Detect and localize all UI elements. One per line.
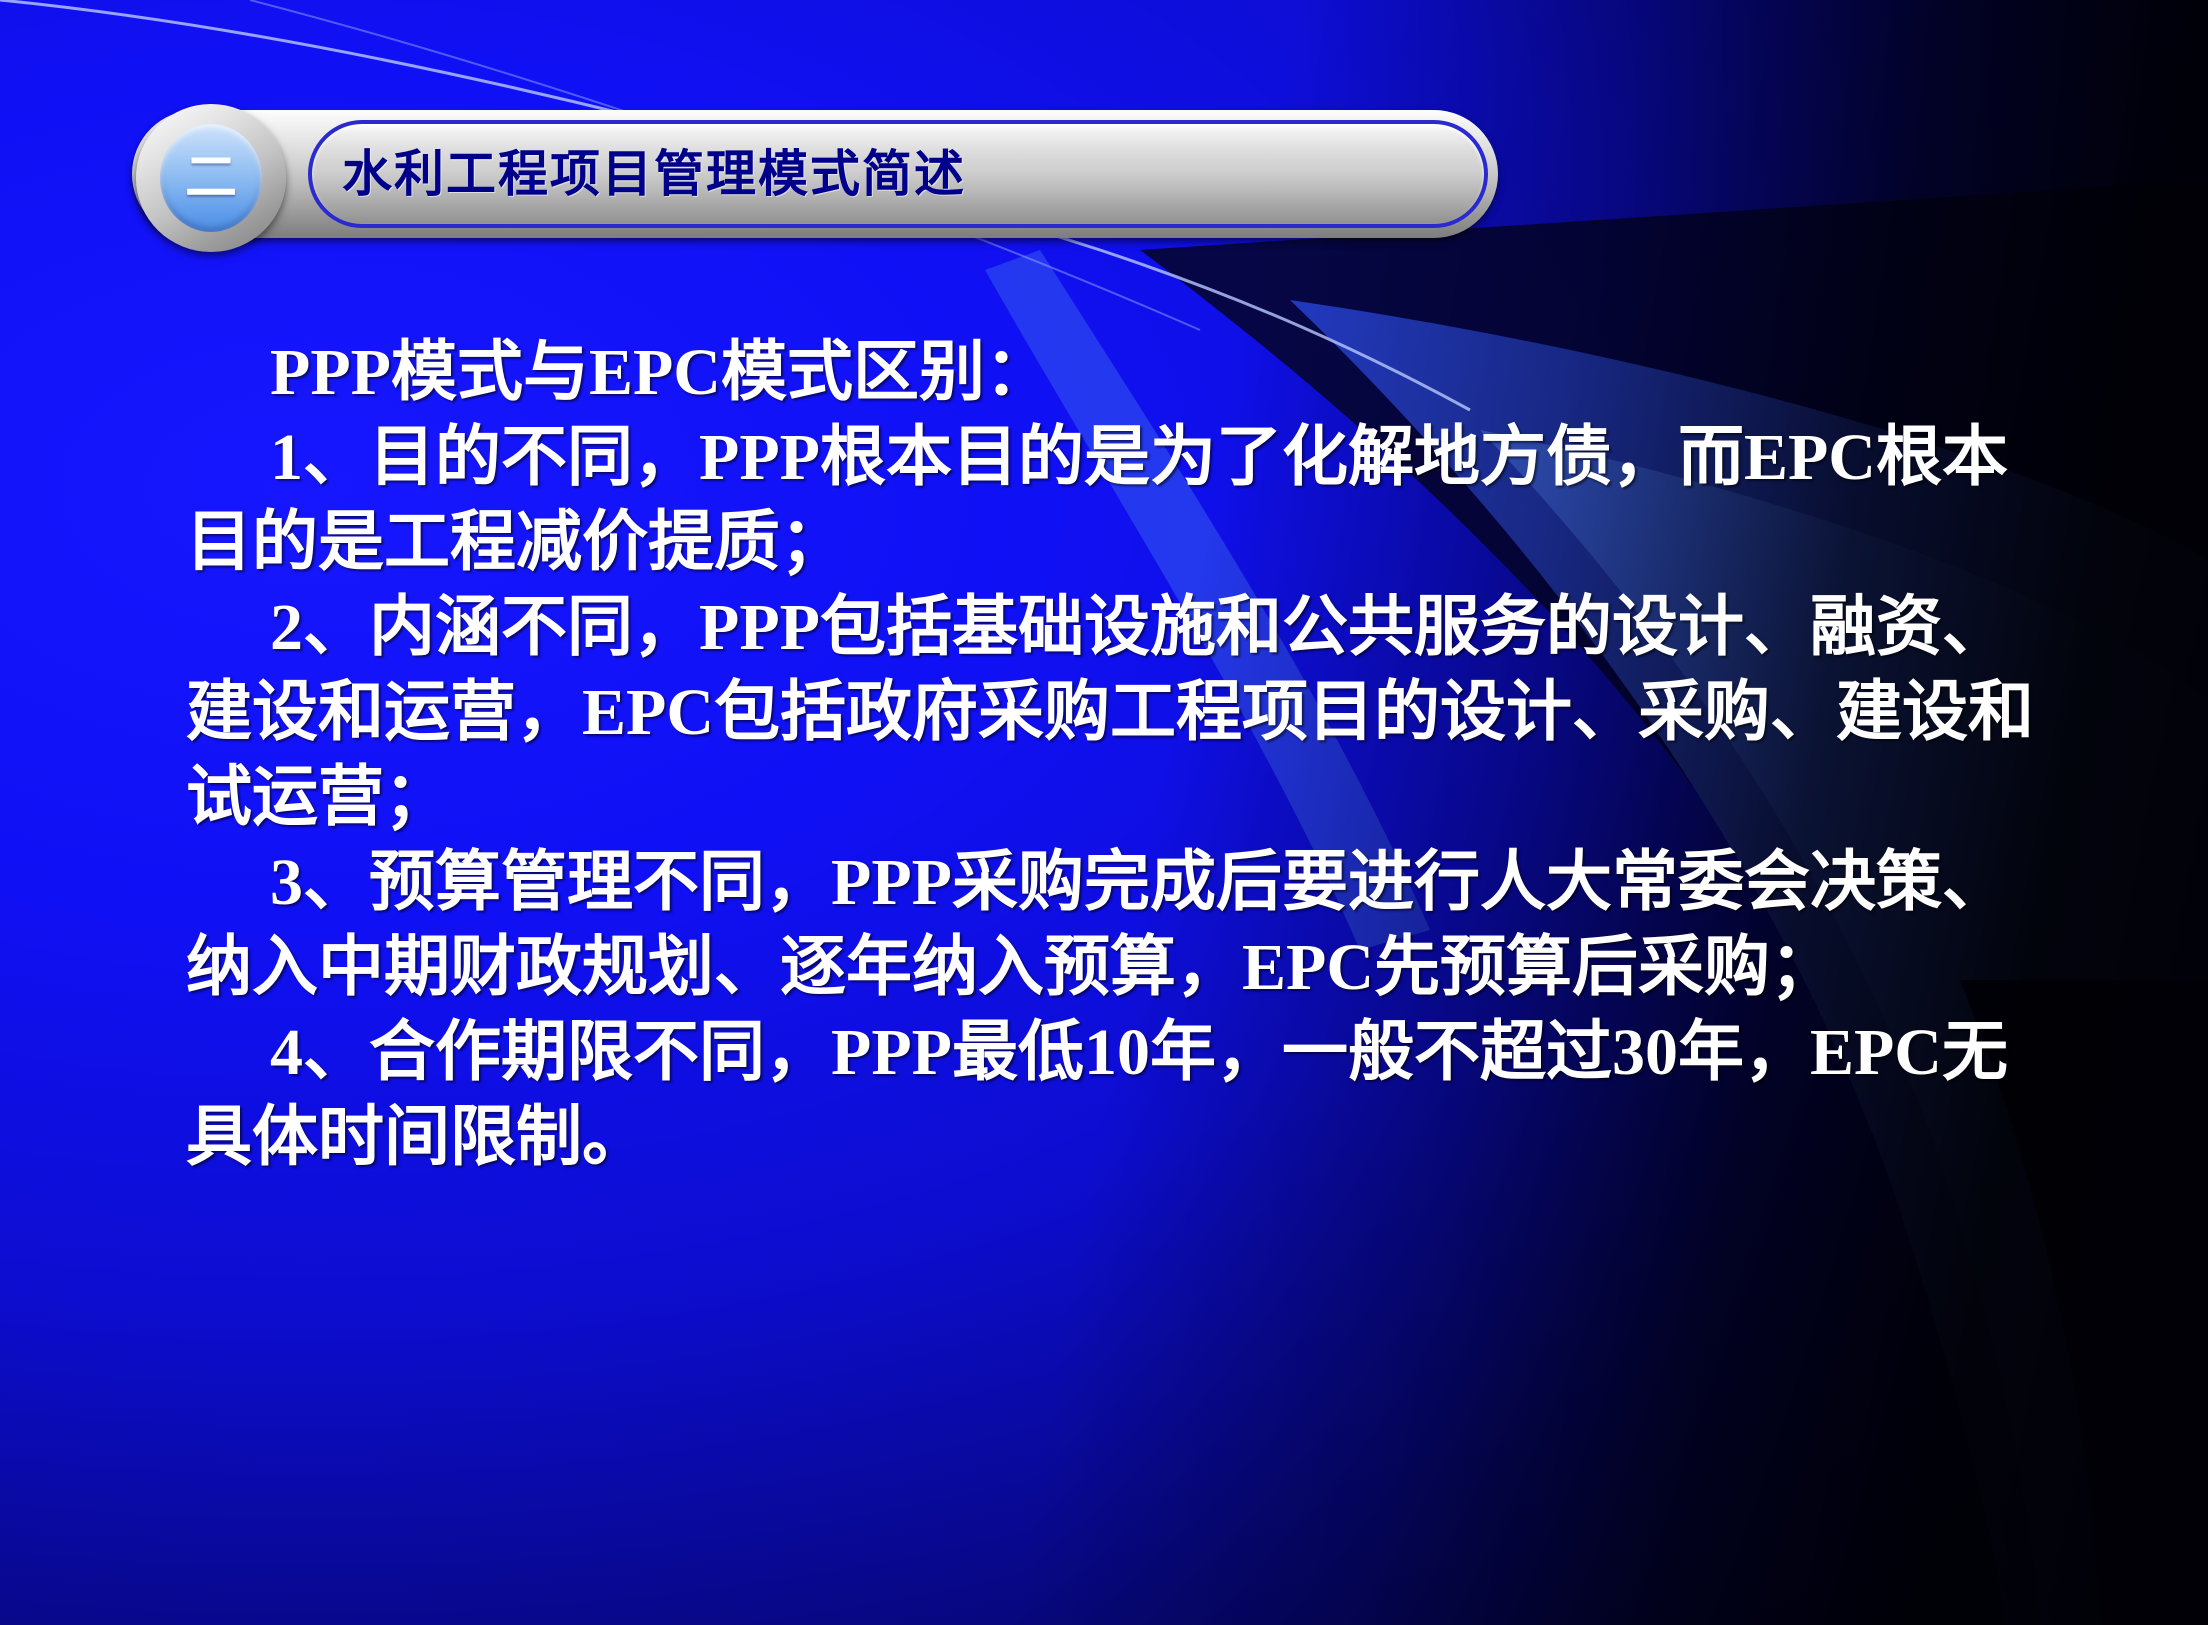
body-line: PPP模式与EPC模式区别： <box>186 330 2086 415</box>
header-badge-ring: 二 <box>136 104 286 252</box>
body-line: 试运营； <box>186 755 2086 840</box>
body-line: 具体时间限制。 <box>186 1095 2086 1180</box>
body-line: 4、合作期限不同，PPP最低10年，一般不超过30年，EPC无 <box>186 1010 2086 1095</box>
presentation-slide: 二 水利工程项目管理模式简述 PPP模式与EPC模式区别： 1、目的不同，PPP… <box>0 0 2208 1625</box>
header-badge-disc: 二 <box>160 124 262 232</box>
page-title: 水利工程项目管理模式简述 <box>342 120 966 228</box>
body-line: 1、目的不同，PPP根本目的是为了化解地方债，而EPC根本 <box>186 415 2086 500</box>
body-line: 目的是工程减价提质； <box>186 500 2086 585</box>
body-line: 建设和运营，EPC包括政府采购工程项目的设计、采购、建设和 <box>186 670 2086 755</box>
body-line: 3、预算管理不同，PPP采购完成后要进行人大常委会决策、 <box>186 840 2086 925</box>
body-line: 纳入中期财政规划、逐年纳入预算，EPC先预算后采购； <box>186 925 2086 1010</box>
slide-body-text: PPP模式与EPC模式区别： 1、目的不同，PPP根本目的是为了化解地方债，而E… <box>186 330 2086 1180</box>
section-number-icon: 二 <box>160 150 262 206</box>
body-line: 2、内涵不同，PPP包括基础设施和公共服务的设计、融资、 <box>186 585 2086 670</box>
slide-header-banner: 二 水利工程项目管理模式简述 <box>132 110 1498 238</box>
